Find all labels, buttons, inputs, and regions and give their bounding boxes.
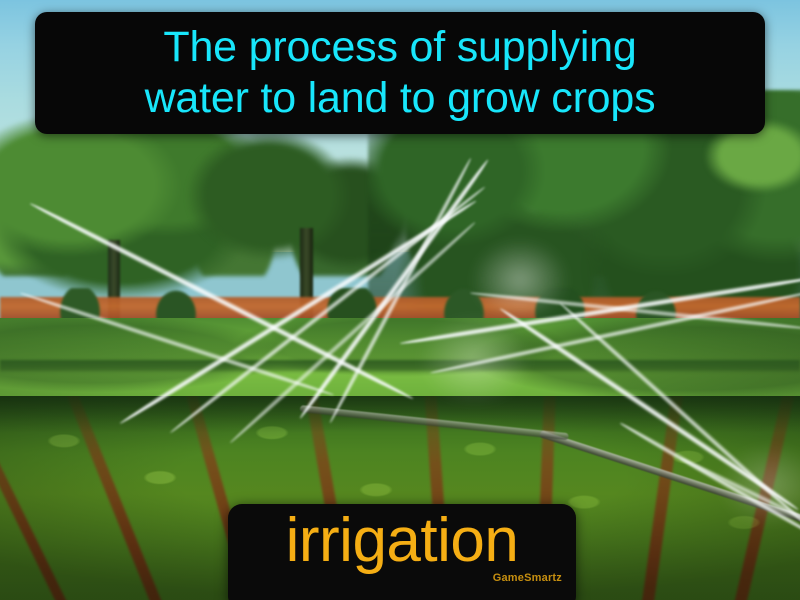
- definition-line-1: The process of supplying: [163, 22, 636, 73]
- term-label: irrigation: [228, 510, 576, 572]
- gamesmartz-watermark: GameSmartz: [493, 572, 562, 584]
- definition-card: The process of supplying water to land t…: [0, 0, 800, 600]
- term-banner: irrigation GameSmartz: [228, 504, 576, 600]
- definition-line-2: water to land to grow crops: [145, 73, 656, 124]
- meadow-hedge-line: [0, 360, 800, 373]
- definition-banner: The process of supplying water to land t…: [35, 12, 765, 134]
